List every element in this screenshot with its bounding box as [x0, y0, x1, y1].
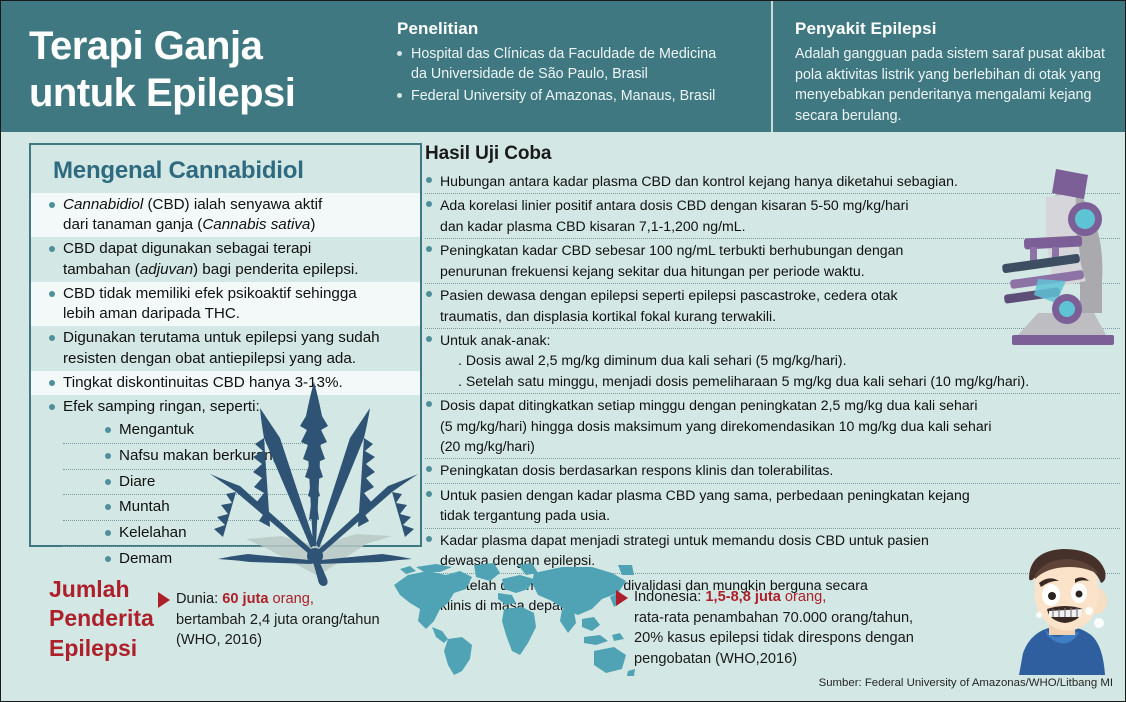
result-line: tidak tergantung pada usia.	[440, 507, 610, 523]
stat-indonesia: Indonesia: 1,5-8,8 juta orang, rata-rata…	[634, 587, 934, 670]
cannabidiol-facts-list: Cannabidiol (CBD) ialah senyawa aktif da…	[31, 193, 420, 574]
result-line: (20 mg/kg/hari)	[440, 438, 535, 454]
fact-6-text: Efek samping ringan, seperti:	[63, 398, 260, 415]
list-item: Tingkat diskontinuitas CBD hanya 3-13%.	[31, 371, 420, 395]
list-item: Efek samping ringan, seperti: Mengantuk …	[31, 395, 420, 574]
triangle-bullet-icon	[158, 592, 170, 608]
list-item: Untuk pasien dengan kadar plasma CBD yan…	[425, 483, 1120, 528]
result-line: Peningkatan kadar CBD sebesar 100 ng/mL …	[440, 242, 903, 258]
result-line: Peningkatan dosis berdasarkan respons kl…	[440, 462, 833, 478]
side-effects-list: Mengantuk Nafsu makan berkurang Diare Mu…	[63, 418, 410, 572]
mengenal-cannabidiol-panel: Mengenal Cannabidiol Cannabidiol (CBD) i…	[29, 143, 422, 547]
fact-1-text-2: dari tanaman ganja (	[63, 216, 202, 233]
fact-1-species: Cannabis sativa	[202, 216, 310, 233]
worried-boy-face-icon	[979, 549, 1126, 675]
header-bar: Terapi Ganja untuk Epilepsi Penelitian H…	[1, 1, 1126, 132]
microscope-icon	[994, 163, 1122, 353]
list-item: Mengantuk	[63, 418, 313, 444]
fact-4-text: Digunakan terutama untuk epilepsi yang s…	[63, 329, 380, 346]
list-item: Digunakan terutama untuk epilepsi yang s…	[31, 326, 420, 370]
result-line: penurunan frekuensi kejang sekitar dua h…	[440, 263, 865, 279]
result-line: Pasien dewasa dengan epilepsi seperti ep…	[440, 287, 898, 303]
fact-2-text: CBD dapat digunakan sebagai terapi	[63, 240, 311, 257]
indonesia-unit: orang,	[785, 589, 826, 605]
penelitian-section: Penelitian Hospital das Clínicas da Facu…	[391, 1, 771, 132]
indonesia-line4: pengobatan (WHO,2016)	[634, 651, 797, 667]
penelitian-item-line1: Hospital das Clínicas da Faculdade de Me…	[411, 46, 716, 62]
page-title: Terapi Ganja untuk Epilepsi	[1, 1, 391, 132]
list-item: Kelelahan	[63, 521, 313, 547]
hasil-uji-coba-title: Hasil Uji Coba	[425, 143, 1120, 165]
fact-1-text-3: )	[310, 216, 315, 233]
penelitian-item-line1: Federal University of Amazonas, Manaus, …	[411, 88, 715, 104]
stat-dunia: Dunia: 60 juta orang, bertambah 2,4 juta…	[176, 589, 391, 651]
infographic-root: Terapi Ganja untuk Epilepsi Penelitian H…	[0, 0, 1126, 702]
result-line: Untuk pasien dengan kadar plasma CBD yan…	[440, 487, 970, 503]
bottom-stats-section: Jumlah Penderita Epilepsi Dunia: 60 juta…	[1, 557, 1126, 702]
penelitian-list: Hospital das Clínicas da Faculdade de Me…	[397, 44, 755, 106]
indonesia-value: 1,5-8,8 juta	[705, 589, 780, 605]
result-subline: Dosis awal 2,5 mg/kg diminum dua kali se…	[440, 350, 1118, 370]
penyakit-epilepsi-section: Penyakit Epilepsi Adalah gangguan pada s…	[771, 1, 1126, 132]
penyakit-heading: Penyakit Epilepsi	[795, 19, 1109, 39]
result-line: Kadar plasma dapat menjadi strategi untu…	[440, 532, 929, 548]
list-item: Dosis dapat ditingkatkan setiap minggu d…	[425, 393, 1120, 458]
dunia-line3: (WHO, 2016)	[176, 632, 262, 648]
indonesia-line3: 20% kasus epilepsi tidak direspons denga…	[634, 630, 914, 646]
result-line: Hubungan antara kadar plasma CBD dan kon…	[440, 173, 958, 189]
result-line: traumatis, dan displasia kortikal fokal …	[440, 308, 776, 324]
world-map-icon	[386, 559, 636, 677]
result-line: Untuk anak-anak:	[440, 332, 550, 348]
list-item: Cannabidiol (CBD) ialah senyawa aktif da…	[31, 193, 420, 237]
penelitian-item: Hospital das Clínicas da Faculdade de Me…	[397, 44, 755, 85]
indonesia-line2: rata-rata penambahan 70.000 orang/tahun,	[634, 610, 913, 626]
list-item: Demam	[63, 547, 313, 572]
list-item: Muntah	[63, 495, 313, 521]
dunia-value: 60 juta	[222, 591, 268, 607]
list-item: Diare	[63, 470, 313, 496]
page-title-line1: Terapi Ganja	[29, 23, 391, 70]
dunia-line2: bertambah 2,4 juta orang/tahun	[176, 612, 380, 628]
result-line: Ada korelasi linier positif antara dosis…	[440, 197, 908, 213]
fact-2-text-3: ) bagi penderita epilepsi.	[193, 261, 358, 278]
list-item: CBD dapat digunakan sebagai terapi tamba…	[31, 237, 420, 281]
fact-2-text-2: tambahan (	[63, 261, 140, 278]
penelitian-item: Federal University of Amazonas, Manaus, …	[397, 86, 755, 106]
triangle-bullet-icon	[616, 590, 628, 606]
dunia-unit: orang,	[273, 591, 314, 607]
mengenal-cannabidiol-title: Mengenal Cannabidiol	[31, 145, 420, 193]
fact-3-text: CBD tidak memiliki efek psikoaktif sehin…	[63, 285, 357, 302]
list-item: Nafsu makan berkurang	[63, 444, 313, 470]
fact-2-emphasis: adjuvan	[140, 261, 193, 278]
fact-4-text-2: resisten dengan obat antiepilepsi yang a…	[63, 350, 356, 367]
list-item: Peningkatan dosis berdasarkan respons kl…	[425, 458, 1120, 482]
penyakit-body: Adalah gangguan pada sistem saraf pusat …	[795, 44, 1109, 126]
source-credit: Sumber: Federal University of Amazonas/W…	[819, 677, 1113, 689]
result-line: dan kadar plasma CBD kisaran 7,1-1,200 n…	[440, 218, 746, 234]
dunia-label: Dunia:	[176, 591, 218, 607]
fact-1-emphasis: Cannabidiol	[63, 196, 143, 213]
fact-1-text: (CBD) ialah senyawa aktif	[143, 196, 322, 213]
penelitian-heading: Penelitian	[397, 19, 755, 39]
indonesia-label: Indonesia:	[634, 589, 701, 605]
result-line: (5 mg/kg/hari) hingga dosis maksimum yan…	[440, 418, 992, 434]
page-title-line2: untuk Epilepsi	[29, 70, 391, 117]
list-item: CBD tidak memiliki efek psikoaktif sehin…	[31, 282, 420, 326]
result-subline: Setelah satu minggu, menjadi dosis pemel…	[440, 371, 1118, 391]
result-line: Dosis dapat ditingkatkan setiap minggu d…	[440, 397, 977, 413]
fact-3-text-2: lebih aman daripada THC.	[63, 305, 240, 322]
penelitian-item-line2: da Universidade de São Paulo, Brasil	[411, 64, 755, 84]
